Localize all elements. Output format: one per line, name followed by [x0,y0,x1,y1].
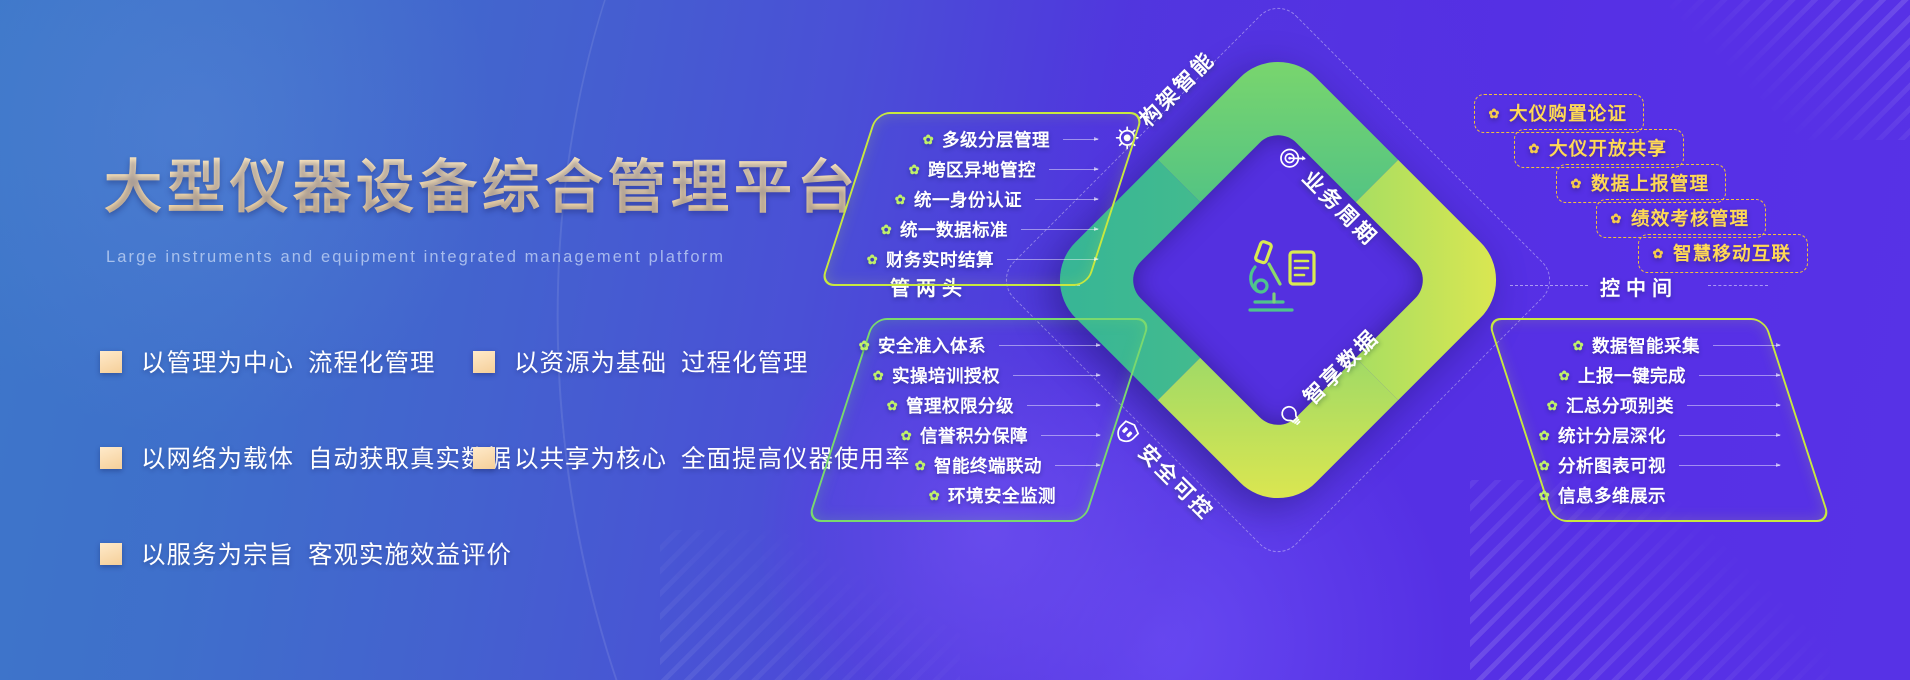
feature-item-1: 以资源为基础过程化管理 [473,330,890,393]
star-icon: ✿ [858,339,871,352]
feature-item-4: 以服务为宗旨客观实施效益评价 [100,522,473,585]
feature-label-4: 以服务为宗旨客观实施效益评价 [141,536,512,571]
square-bullet-icon [473,447,495,469]
star-icon: ✿ [1610,212,1623,225]
list-item[interactable]: ✿环境安全监测 [858,480,1100,510]
pill-badge-3[interactable]: ✿绩效考核管理 [1596,199,1766,238]
card-governance-top: ✿多级分层管理 ✿跨区异地管控 ✿统一身份认证 ✿统一数据标准 ✿财务实时结算 [820,112,1145,286]
feature-list: 以管理为中心流程化管理 以资源为基础过程化管理 以网络为载体自动获取真实数据 以… [100,330,890,585]
list-item[interactable]: ✿安全准入体系 [858,330,1100,360]
list-item[interactable]: ✿信誉积分保障 [858,420,1100,450]
list-rule [1013,375,1100,376]
list-rule [1035,199,1098,200]
square-bullet-icon [100,543,122,565]
pill-badge-2[interactable]: ✿数据上报管理 [1556,164,1726,203]
governance-top-list: ✿多级分层管理 ✿跨区异地管控 ✿统一身份认证 ✿统一数据标准 ✿财务实时结算 [866,124,1098,274]
page-subtitle: Large instruments and equipment integrat… [106,248,725,267]
star-icon: ✿ [866,253,879,266]
hero-text-panel: 大型仪器设备综合管理平台 Large instruments and equip… [0,0,900,680]
list-item[interactable]: ✿智能终端联动 [858,450,1100,480]
banner-root: 大型仪器设备综合管理平台 Large instruments and equip… [0,0,1910,680]
list-rule [1687,405,1780,406]
divider-dash [1708,285,1768,286]
list-rule [1027,405,1100,406]
star-icon: ✿ [1570,177,1583,190]
pill-badge-0[interactable]: ✿大仪购置论证 [1474,94,1644,133]
list-rule [1055,465,1100,466]
star-icon: ✿ [1488,107,1501,120]
star-icon: ✿ [1546,399,1559,412]
star-icon: ✿ [1572,339,1585,352]
list-rule [1699,375,1780,376]
star-icon: ✿ [1538,429,1551,442]
list-item[interactable]: ✿信息多维展示 [1538,480,1780,510]
list-item[interactable]: ✿统一身份认证 [866,184,1098,214]
list-rule [1679,465,1780,466]
star-icon: ✿ [872,369,885,382]
page-title: 大型仪器设备综合管理平台 [104,140,860,224]
list-item[interactable]: ✿财务实时结算 [866,244,1098,274]
star-icon: ✿ [914,459,927,472]
list-rule [1679,435,1780,436]
list-item[interactable]: ✿统一数据标准 [866,214,1098,244]
list-rule [1713,345,1780,346]
data-bottom-list: ✿数据智能采集 ✿上报一键完成 ✿汇总分项别类 ✿统计分层深化 ✿分析图表可视 … [1538,330,1780,510]
list-item[interactable]: ✿分析图表可视 [1538,450,1780,480]
list-item[interactable]: ✿数据智能采集 [1538,330,1780,360]
star-icon: ✿ [1652,247,1665,260]
list-rule [1021,229,1098,230]
star-icon: ✿ [880,223,893,236]
star-icon: ✿ [1538,459,1551,472]
list-item[interactable]: ✿上报一键完成 [1538,360,1780,390]
list-item[interactable]: ✿管理权限分级 [858,390,1100,420]
card-data-bottom: ✿数据智能采集 ✿上报一键完成 ✿汇总分项别类 ✿统计分层深化 ✿分析图表可视 … [1487,318,1831,522]
feature-label-0: 以管理为中心流程化管理 [141,344,436,379]
section-label-right: 控中间 [1600,272,1678,301]
star-icon: ✿ [886,399,899,412]
feature-item-0: 以管理为中心流程化管理 [100,330,473,393]
star-icon: ✿ [900,429,913,442]
feature-item-2: 以网络为载体自动获取真实数据 [100,426,473,489]
square-bullet-icon [473,351,495,373]
list-rule [1041,435,1100,436]
star-icon: ✿ [1558,369,1571,382]
list-rule [999,345,1100,346]
star-icon: ✿ [894,193,907,206]
pill-badge-1[interactable]: ✿大仪开放共享 [1514,129,1684,168]
square-bullet-icon [100,447,122,469]
concept-diagram: 构架智能 业务周期 安全可控 [830,0,1910,680]
list-item[interactable]: ✿实操培训授权 [858,360,1100,390]
square-bullet-icon [100,351,122,373]
list-rule [1049,169,1098,170]
list-rule [1007,259,1098,260]
feature-label-2: 以网络为载体自动获取真实数据 [141,440,512,475]
list-rule [1063,139,1098,140]
star-icon: ✿ [1528,142,1541,155]
card-security-bottom: ✿安全准入体系 ✿实操培训授权 ✿管理权限分级 ✿信誉积分保障 ✿智能终端联动 … [807,318,1151,522]
list-item[interactable]: ✿汇总分项别类 [1538,390,1780,420]
list-item[interactable]: ✿跨区异地管控 [866,154,1098,184]
star-icon: ✿ [928,489,941,502]
security-bottom-list: ✿安全准入体系 ✿实操培训授权 ✿管理权限分级 ✿信誉积分保障 ✿智能终端联动 … [858,330,1100,510]
pill-badge-4[interactable]: ✿智慧移动互联 [1638,234,1808,273]
star-icon: ✿ [922,133,935,146]
list-item[interactable]: ✿统计分层深化 [1538,420,1780,450]
star-icon: ✿ [908,163,921,176]
microscope-icon [1228,230,1328,330]
feature-label-1: 以资源为基础过程化管理 [514,344,809,379]
divider-dash [1510,285,1588,286]
star-icon: ✿ [1538,489,1551,502]
list-item[interactable]: ✿多级分层管理 [866,124,1098,154]
